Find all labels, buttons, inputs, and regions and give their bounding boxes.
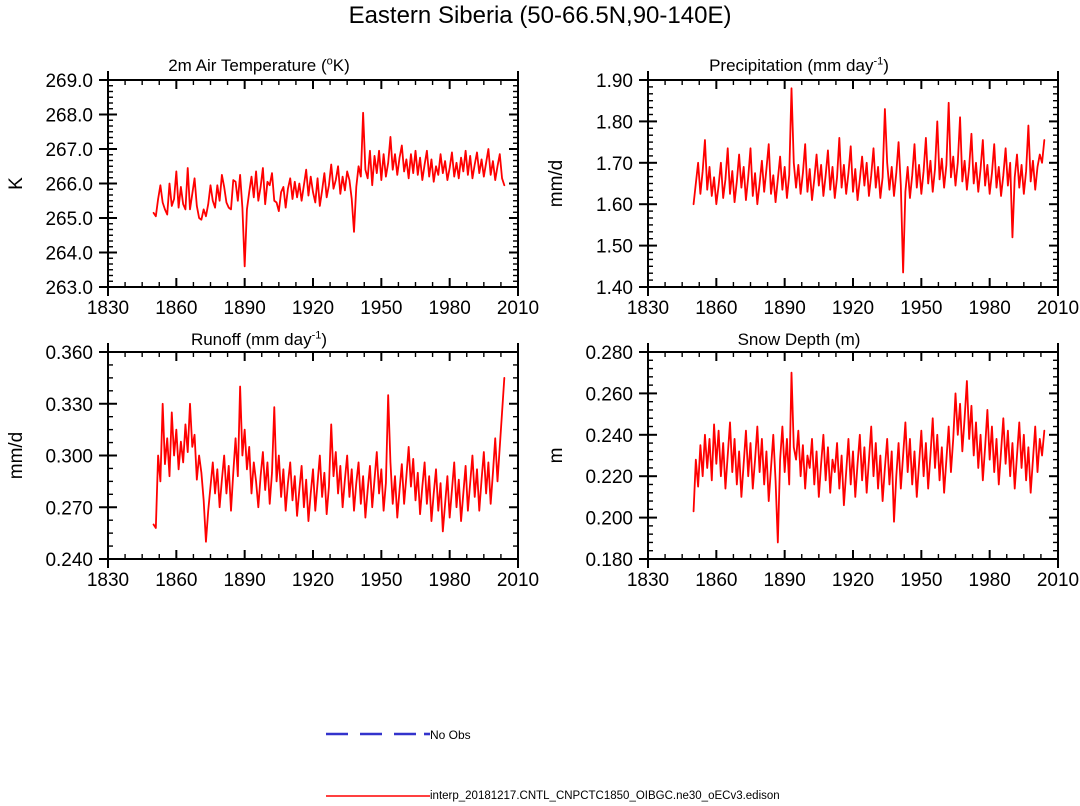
x-tick-label: 2010 bbox=[1037, 570, 1079, 591]
y-tick-label: 0.180 bbox=[585, 550, 633, 571]
y-axis-label: mm/d bbox=[6, 432, 27, 480]
x-tick-label: 1950 bbox=[360, 570, 402, 591]
y-tick-label: 1.80 bbox=[596, 112, 633, 133]
chart-air-temperature: 1830186018901920195019802010263.0264.026… bbox=[0, 44, 540, 334]
panel-title-runoff: Runoff (mm day-1) bbox=[0, 330, 518, 350]
y-tick-label: 263.0 bbox=[45, 278, 93, 299]
x-tick-label: 1980 bbox=[969, 570, 1011, 591]
data-series-line bbox=[694, 373, 1045, 543]
y-tick-label: 0.270 bbox=[45, 498, 93, 519]
y-tick-label: 0.220 bbox=[585, 467, 633, 488]
x-tick-label: 1860 bbox=[695, 298, 737, 319]
x-tick-label: 1950 bbox=[900, 298, 942, 319]
y-tick-label: 268.0 bbox=[45, 106, 93, 127]
x-tick-label: 1920 bbox=[292, 570, 334, 591]
figure-root: Eastern Siberia (50-66.5N,90-140E) 2m Ai… bbox=[0, 0, 1080, 799]
x-tick-label: 1920 bbox=[832, 298, 874, 319]
data-series-line bbox=[694, 88, 1045, 272]
y-tick-label: 0.300 bbox=[45, 447, 93, 468]
y-tick-label: 1.50 bbox=[596, 237, 633, 258]
x-tick-label: 1860 bbox=[695, 570, 737, 591]
x-tick-label: 1890 bbox=[764, 570, 806, 591]
panel-title-air-temperature: 2m Air Temperature (oK) bbox=[0, 56, 518, 76]
y-axis-label: K bbox=[6, 177, 27, 190]
y-tick-label: 1.40 bbox=[596, 278, 633, 299]
x-tick-label: 1860 bbox=[155, 570, 197, 591]
x-tick-label: 2010 bbox=[497, 298, 539, 319]
legend-entry-no-obs: No Obs bbox=[0, 720, 1080, 744]
legend-label-no-obs: No Obs bbox=[430, 728, 471, 742]
y-tick-label: 0.200 bbox=[585, 509, 633, 530]
y-tick-label: 0.260 bbox=[585, 384, 633, 405]
x-tick-label: 1920 bbox=[832, 570, 874, 591]
panel-title-snow-depth: Snow Depth (m) bbox=[540, 330, 1058, 350]
x-tick-label: 1830 bbox=[627, 570, 669, 591]
panel-title-precipitation: Precipitation (mm day-1) bbox=[540, 56, 1058, 76]
panel-runoff: Runoff (mm day-1) 1830186018901920195019… bbox=[0, 330, 540, 615]
y-tick-label: 265.0 bbox=[45, 209, 93, 230]
panel-snow-depth: Snow Depth (m) 1830186018901920195019802… bbox=[540, 330, 1080, 615]
chart-snow-depth: 18301860189019201950198020100.1800.2000.… bbox=[540, 330, 1080, 615]
x-tick-label: 1920 bbox=[292, 298, 334, 319]
y-tick-label: 0.330 bbox=[45, 395, 93, 416]
x-tick-label: 2010 bbox=[497, 570, 539, 591]
y-tick-label: 1.70 bbox=[596, 154, 633, 175]
data-series-line bbox=[154, 378, 505, 542]
y-tick-label: 0.240 bbox=[585, 426, 633, 447]
x-tick-label: 1890 bbox=[224, 298, 266, 319]
x-tick-label: 2010 bbox=[1037, 298, 1079, 319]
y-tick-label: 0.240 bbox=[45, 550, 93, 571]
x-tick-label: 1980 bbox=[429, 298, 471, 319]
legend: No Obs interp_20181217.CNTL_CNPCTC1850_O… bbox=[0, 720, 1080, 806]
panel-precipitation: Precipitation (mm day-1) 183018601890192… bbox=[540, 44, 1080, 334]
x-tick-label: 1830 bbox=[87, 298, 129, 319]
x-tick-label: 1890 bbox=[224, 570, 266, 591]
legend-label-model: interp_20181217.CNTL_CNPCTC1850_OIBGC.ne… bbox=[430, 790, 780, 802]
data-series-line bbox=[154, 113, 505, 267]
chart-precipitation: 18301860189019201950198020101.401.501.60… bbox=[540, 44, 1080, 334]
chart-runoff: 18301860189019201950198020100.2400.2700.… bbox=[0, 330, 540, 615]
y-tick-label: 264.0 bbox=[45, 244, 93, 265]
y-axis-label: m bbox=[546, 448, 567, 464]
x-tick-label: 1830 bbox=[87, 570, 129, 591]
figure-title: Eastern Siberia (50-66.5N,90-140E) bbox=[0, 2, 1080, 30]
y-tick-label: 266.0 bbox=[45, 175, 93, 196]
x-tick-label: 1830 bbox=[627, 298, 669, 319]
x-tick-label: 1950 bbox=[360, 298, 402, 319]
x-tick-label: 1950 bbox=[900, 570, 942, 591]
y-tick-label: 267.0 bbox=[45, 140, 93, 161]
x-tick-label: 1980 bbox=[969, 298, 1011, 319]
x-tick-label: 1980 bbox=[429, 570, 471, 591]
x-tick-label: 1860 bbox=[155, 298, 197, 319]
y-axis-label: mm/d bbox=[546, 160, 567, 208]
x-tick-label: 1890 bbox=[764, 298, 806, 319]
y-tick-label: 1.60 bbox=[596, 195, 633, 216]
panel-air-temperature: 2m Air Temperature (oK) 1830186018901920… bbox=[0, 44, 540, 334]
legend-entry-model: interp_20181217.CNTL_CNPCTC1850_OIBGC.ne… bbox=[0, 782, 1080, 806]
